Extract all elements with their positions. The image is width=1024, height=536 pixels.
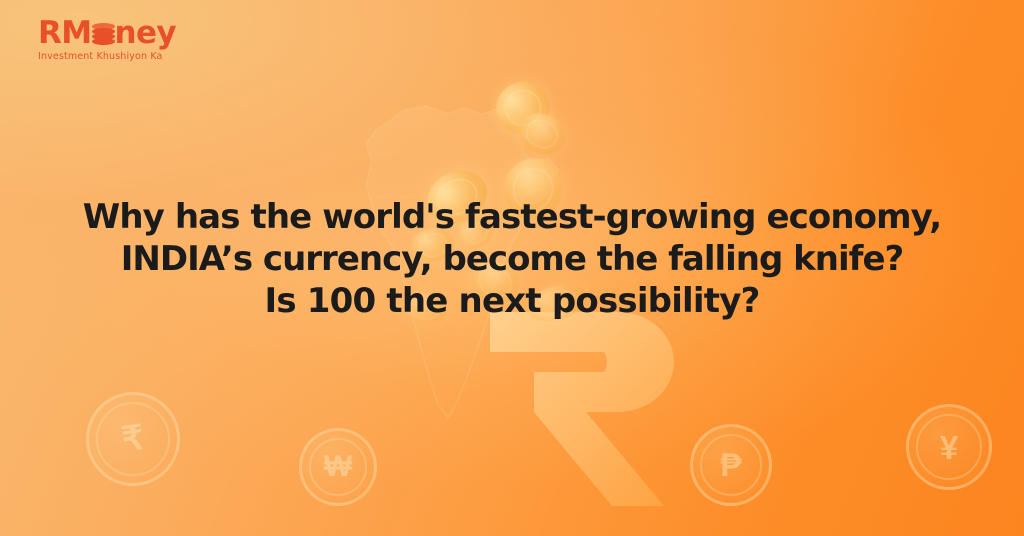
falling-coin: [489, 75, 556, 141]
peso-coin: ₱: [690, 424, 772, 506]
logo-tagline: Investment Khushiyon Ka: [38, 51, 188, 62]
coin-stack-icon: [92, 23, 115, 47]
falling-coin: [409, 224, 457, 266]
peso-symbol: ₱: [720, 449, 741, 481]
logo-wordmark: RMney: [38, 16, 188, 50]
won-coin: ₩: [299, 428, 377, 506]
falling-coins-cluster: [400, 80, 650, 370]
india-map-silhouette: [352, 96, 582, 426]
rmoney-logo[interactable]: RMney Investment Khushiyon Ka: [38, 16, 188, 70]
falling-coin: [418, 160, 496, 233]
headline-line-3: Is 100 the next possibility?: [0, 280, 1024, 322]
promo-banner: ₹ ₩ ₱ ¥ RMney Investment Khushiyon Ka Wh…: [0, 0, 1024, 536]
logo-text-before-coin: RM: [38, 16, 92, 50]
yen-coin: ¥: [906, 404, 992, 490]
falling-coin: [453, 210, 500, 255]
headline-line-2: INDIA’s currency, become the falling kni…: [0, 238, 1024, 280]
yen-symbol: ¥: [940, 431, 958, 464]
won-symbol: ₩: [324, 452, 352, 482]
headline: Why has the world's fastest-growing econ…: [0, 196, 1024, 322]
headline-line-1: Why has the world's fastest-growing econ…: [0, 196, 1024, 238]
rupee-coin: ₹: [80, 386, 186, 492]
falling-coin: [400, 290, 449, 327]
falling-coin: [464, 253, 526, 311]
falling-coin: [497, 152, 568, 226]
indian-rupee-sign-icon: [468, 300, 698, 515]
falling-coin: [523, 278, 592, 328]
falling-coin: [512, 106, 571, 161]
logo-text-after-coin: ney: [115, 16, 177, 50]
rupee-symbol: ₹: [120, 421, 146, 458]
